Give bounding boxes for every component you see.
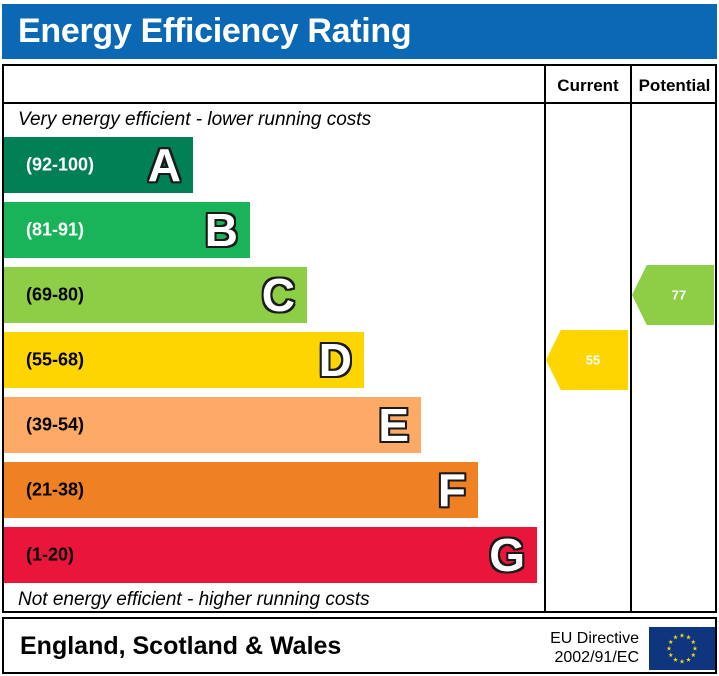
rating-band-g: (1-20)G [4,527,537,583]
rating-band-b: (81-91)B [4,202,250,258]
potential-rating-value: 77 [632,288,714,303]
current-rating-value: 55 [546,353,628,368]
page-title: Energy Efficiency Rating [18,12,411,51]
potential-column-divider [630,64,632,613]
energy-efficiency-rating-chart: Energy Efficiency Rating Current Potenti… [0,0,719,676]
potential-rating-arrow: 77 [632,265,714,325]
band-letter-c: C [262,272,295,318]
band-range-label: (92-100) [26,155,94,176]
caption-bottom: Not energy efficient - higher running co… [18,589,370,611]
chart-footer: England, Scotland & Wales EU Directive 2… [2,617,717,674]
header-divider [2,102,717,104]
current-rating-arrow: 55 [546,330,628,390]
rating-band-d: (55-68)D [4,332,364,388]
column-header-potential: Potential [632,74,717,98]
band-range-label: (81-91) [26,220,84,241]
caption-top: Very energy efficient - lower running co… [18,109,371,131]
chart-title-bar: Energy Efficiency Rating [2,4,717,59]
band-range-label: (39-54) [26,415,84,436]
band-range-label: (21-38) [26,480,84,501]
band-range-label: (55-68) [26,350,84,371]
band-letter-f: F [438,467,466,513]
column-header-current: Current [546,74,630,98]
rating-band-e: (39-54)E [4,397,421,453]
band-letter-e: E [378,402,409,448]
eu-directive-line1: EU Directive [524,629,639,648]
rating-band-c: (69-80)C [4,267,307,323]
band-letter-g: G [489,532,525,578]
eu-directive-label: EU Directive 2002/91/EC [524,629,639,667]
eu-directive-line2: 2002/91/EC [524,648,639,667]
rating-band-a: (92-100)A [4,137,193,193]
band-letter-b: B [205,207,238,253]
band-letter-a: A [148,142,181,188]
rating-band-f: (21-38)F [4,462,478,518]
band-range-label: (69-80) [26,285,84,306]
band-letter-d: D [319,337,352,383]
band-range-label: (1-20) [26,545,74,566]
eu-flag-icon [649,627,715,670]
footer-region-label: England, Scotland & Wales [20,632,341,661]
